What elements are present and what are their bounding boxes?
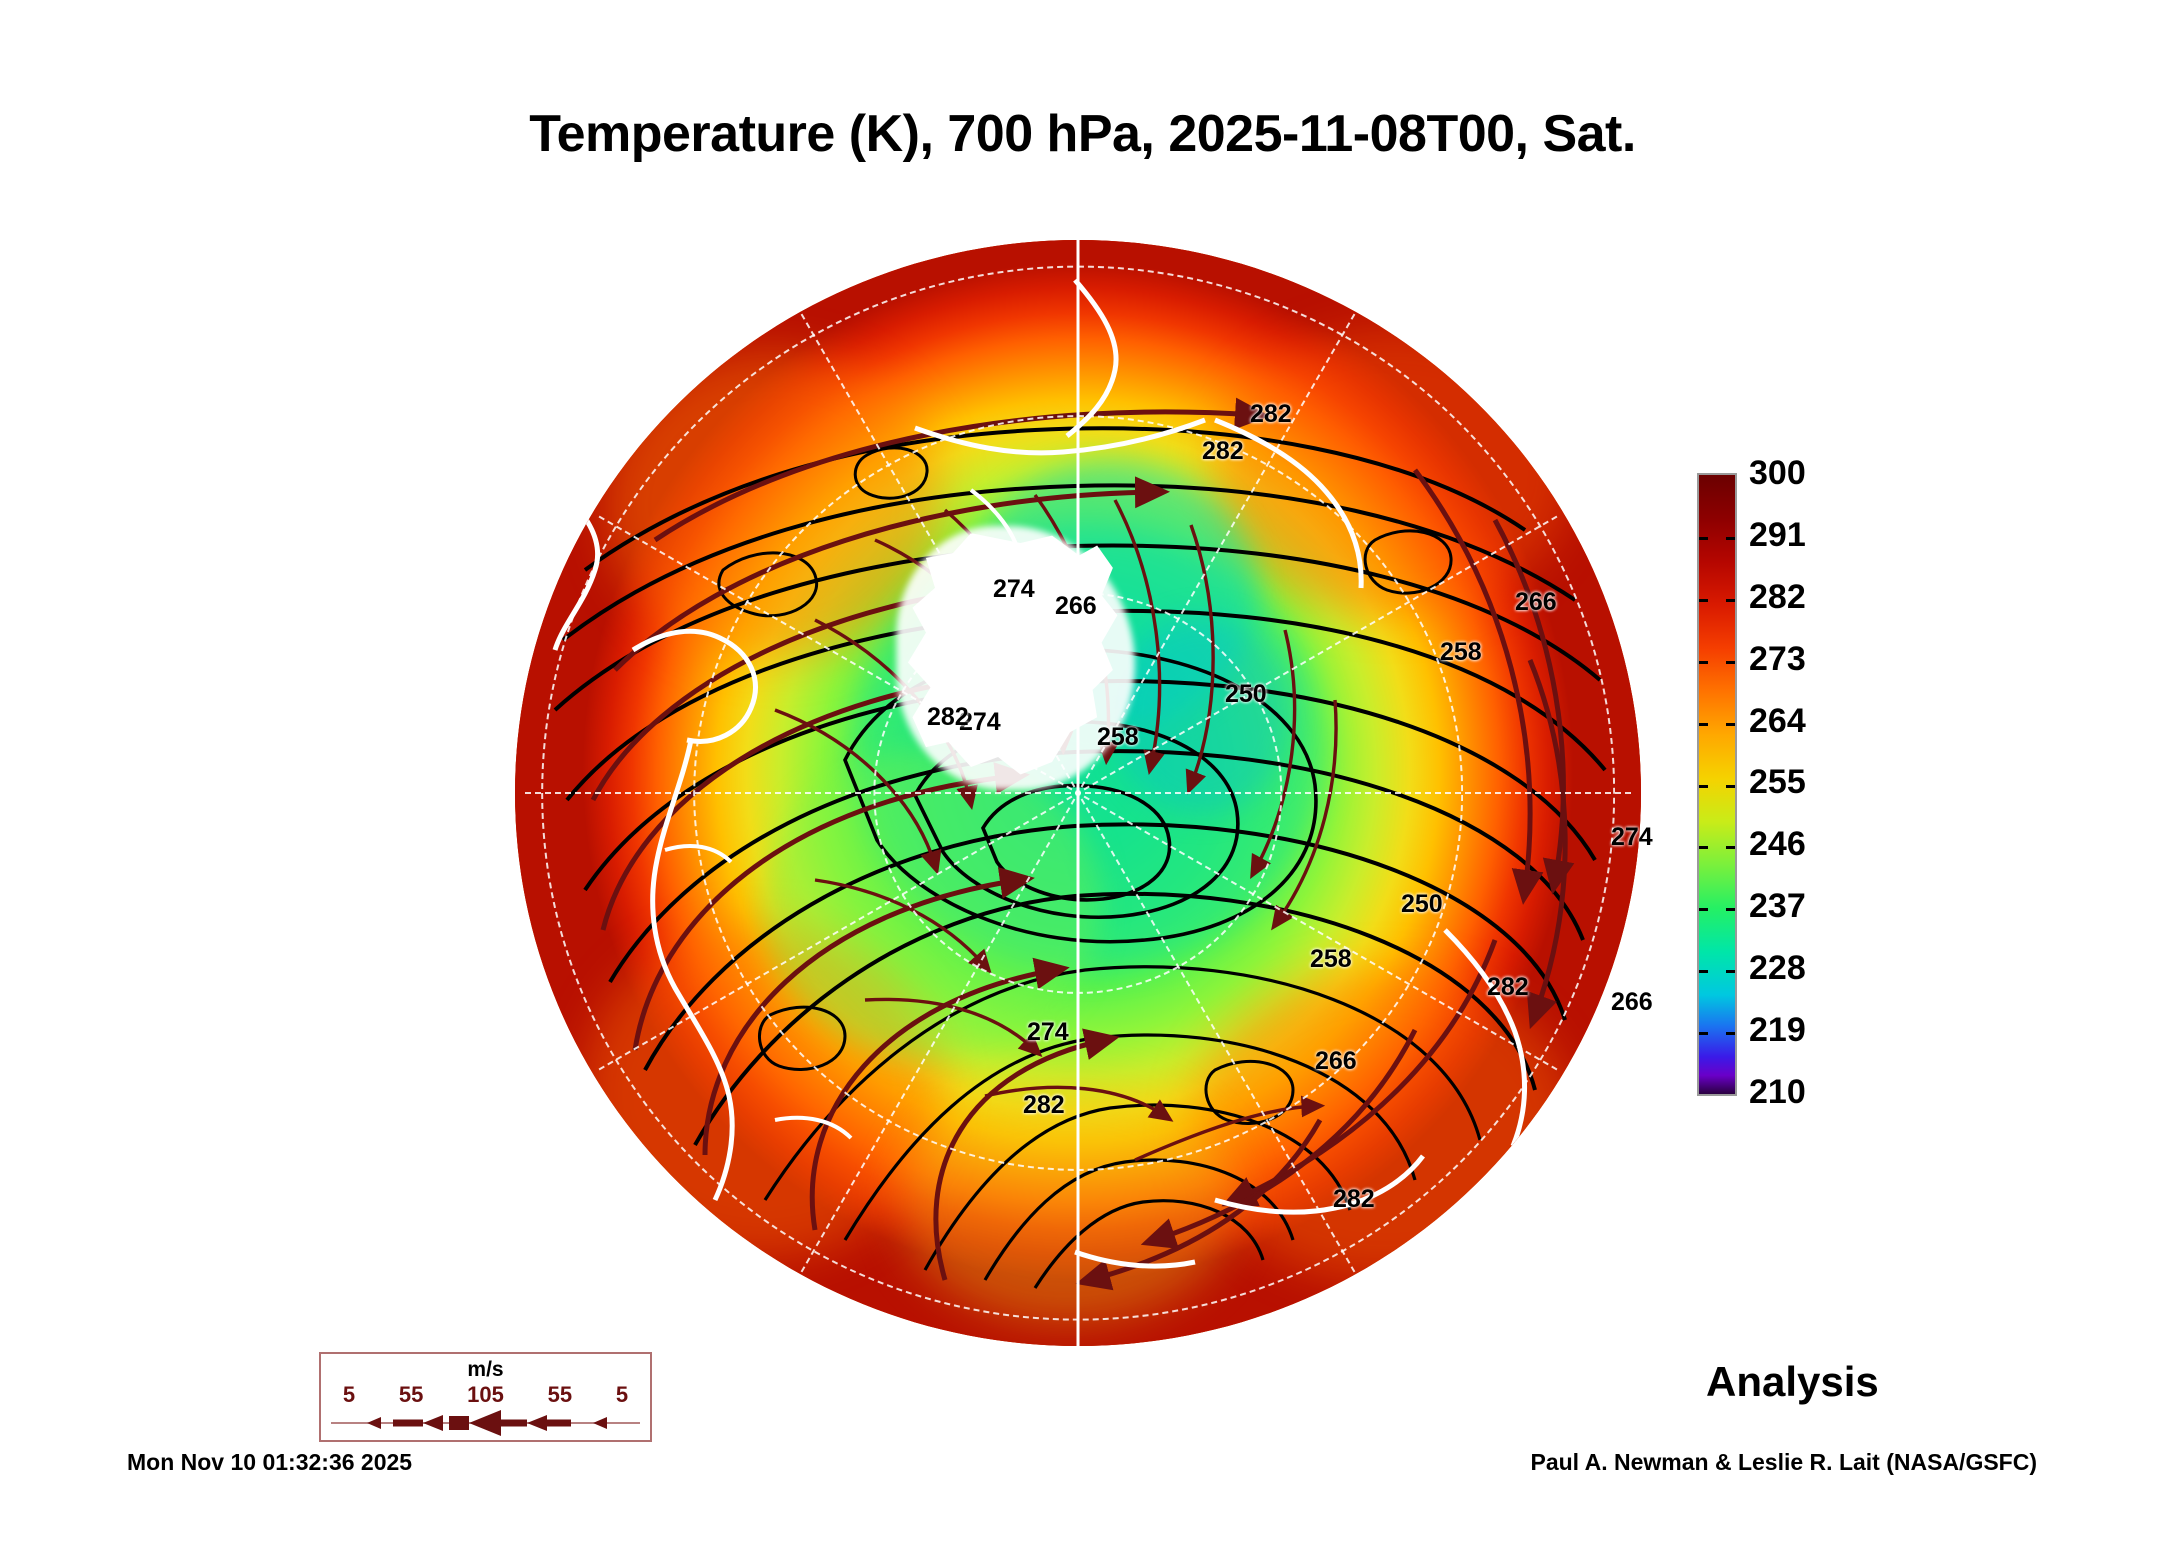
wind-value-label: 5: [343, 1382, 355, 1408]
generation-timestamp: Mon Nov 10 01:32:36 2025: [127, 1449, 412, 1476]
colorbar-tick-label: 291: [1749, 512, 1806, 574]
colorbar-tick-label: 273: [1749, 636, 1806, 698]
contour-label: 258: [1310, 945, 1352, 974]
contour-label: 250: [1401, 890, 1443, 919]
colorbar-tick-label: 246: [1749, 821, 1806, 883]
contour-label: 282: [927, 703, 969, 732]
contour-label: 274: [993, 575, 1035, 604]
wind-value-label: 55: [399, 1382, 423, 1408]
contour-label: 274: [1611, 823, 1653, 852]
colorbar-tick-label: 210: [1749, 1069, 1806, 1131]
wind-value-labels: 555105555: [321, 1382, 650, 1408]
contour-label: 258: [1440, 638, 1482, 667]
contour-label: 266: [1611, 988, 1653, 1017]
contour-label: 258: [1097, 723, 1139, 752]
colorbar: [1697, 473, 1737, 1096]
contour-label: 282: [1333, 1185, 1375, 1214]
colorbar-tick-label: 255: [1749, 759, 1806, 821]
prime-meridian-line: [1077, 240, 1080, 1346]
wind-value-label: 5: [616, 1382, 628, 1408]
colorbar-tick-label: 219: [1749, 1007, 1806, 1069]
colorbar-tick-label: 228: [1749, 945, 1806, 1007]
contour-label: 282: [1250, 400, 1292, 429]
contour-label: 266: [1315, 1047, 1357, 1076]
map-disc: [515, 240, 1641, 1346]
colorbar-group: 300291282273264255246237228219210: [1697, 473, 1737, 1096]
polar-temperature-map: 2822822662742742822502582582662742502582…: [515, 240, 1641, 1346]
wind-value-label: 55: [548, 1382, 572, 1408]
colorbar-tick-label: 264: [1749, 698, 1806, 760]
author-credit: Paul A. Newman & Leslie R. Lait (NASA/GS…: [1530, 1449, 2037, 1476]
page-title: Temperature (K), 700 hPa, 2025-11-08T00,…: [0, 104, 2165, 164]
wind-value-label: 105: [467, 1382, 504, 1408]
wind-arrow-scale: [331, 1410, 640, 1436]
contour-label: 274: [1027, 1018, 1069, 1047]
contour-label: 250: [1225, 680, 1267, 709]
colorbar-tick-labels: 300291282273264255246237228219210: [1749, 450, 1806, 1131]
contour-label: 282: [1023, 1091, 1065, 1120]
wind-speed-legend: m/s 555105555: [319, 1352, 652, 1442]
contour-label: 266: [1055, 592, 1097, 621]
colorbar-tick-label: 282: [1749, 574, 1806, 636]
colorbar-tick-label: 237: [1749, 883, 1806, 945]
colorbar-tick-label: 300: [1749, 450, 1806, 512]
contour-label: 266: [1515, 588, 1557, 617]
contour-label: 282: [1487, 973, 1529, 1002]
wind-unit-label: m/s: [321, 1358, 650, 1382]
analysis-label: Analysis: [1706, 1358, 1879, 1406]
contour-label: 282: [1202, 437, 1244, 466]
